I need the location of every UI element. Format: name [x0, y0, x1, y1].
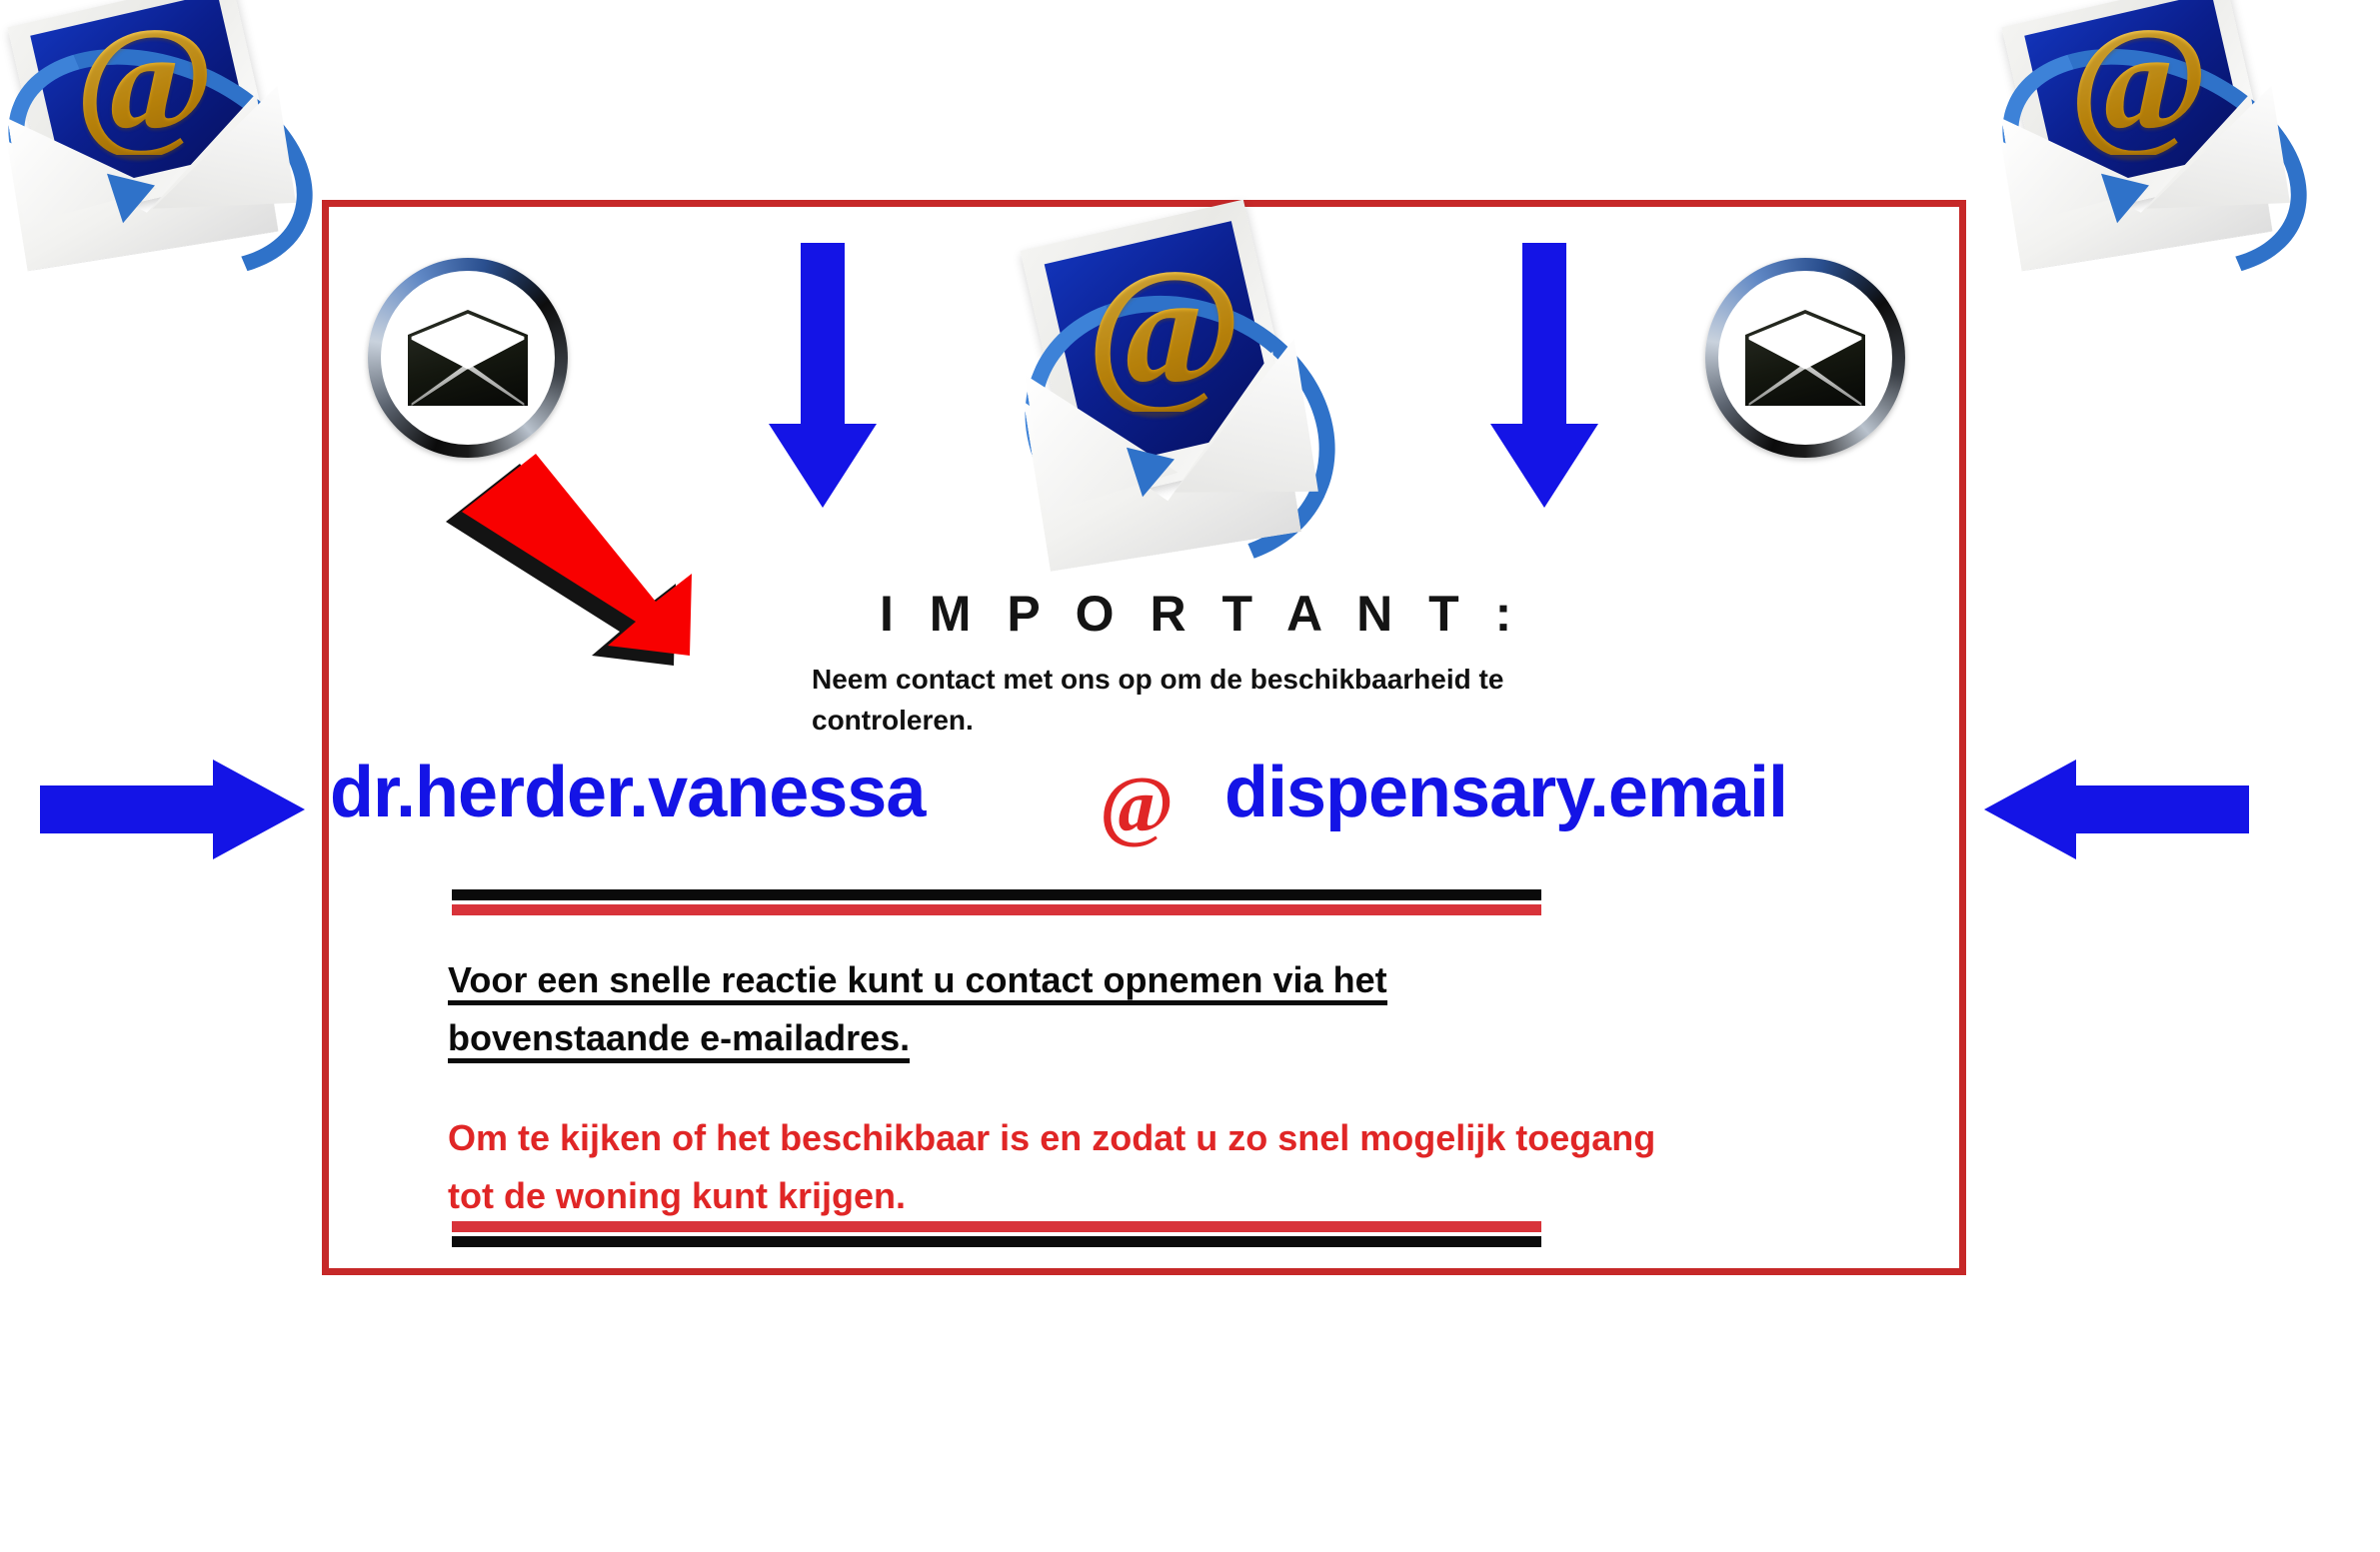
email-domain-part[interactable]: dispensary.email [1224, 752, 1787, 833]
red-arrow-diagonal-down-right-icon [440, 440, 720, 670]
divider-bottom [452, 1221, 1541, 1247]
divider-top [452, 889, 1541, 915]
email-at-envelope-icon-center: @ [1010, 208, 1319, 560]
poster-canvas: @ @ [0, 0, 2380, 1552]
red-note: Om te kijken of het beschikbaar is en zo… [448, 1109, 1707, 1226]
blue-arrow-right-icon [40, 760, 305, 859]
page-title: I M P O R T A N T : [880, 585, 1522, 643]
email-local-part[interactable]: dr.herder.vanessa [330, 752, 925, 833]
heading-subtitle: Neem contact met ons op om de beschikbaa… [812, 660, 1611, 741]
email-at-envelope-icon-top-left: @ [0, 0, 300, 258]
email-at-envelope-icon-top-right: @ [1984, 0, 2294, 258]
email-at-symbol: @ [1100, 766, 1174, 845]
blue-arrow-down-icon-left [768, 243, 878, 508]
email-address[interactable]: dr.herder.vanessa @ dispensary.email [330, 752, 1959, 871]
black-note-text: Voor een snelle reactie kunt u contact o… [448, 959, 1387, 1063]
blue-arrow-left-icon [1984, 760, 2249, 859]
circle-open-envelope-icon-left [368, 258, 568, 458]
blue-arrow-down-icon-right [1489, 243, 1599, 508]
circle-open-envelope-icon-right [1705, 258, 1905, 458]
black-note: Voor een snelle reactie kunt u contact o… [448, 951, 1587, 1068]
